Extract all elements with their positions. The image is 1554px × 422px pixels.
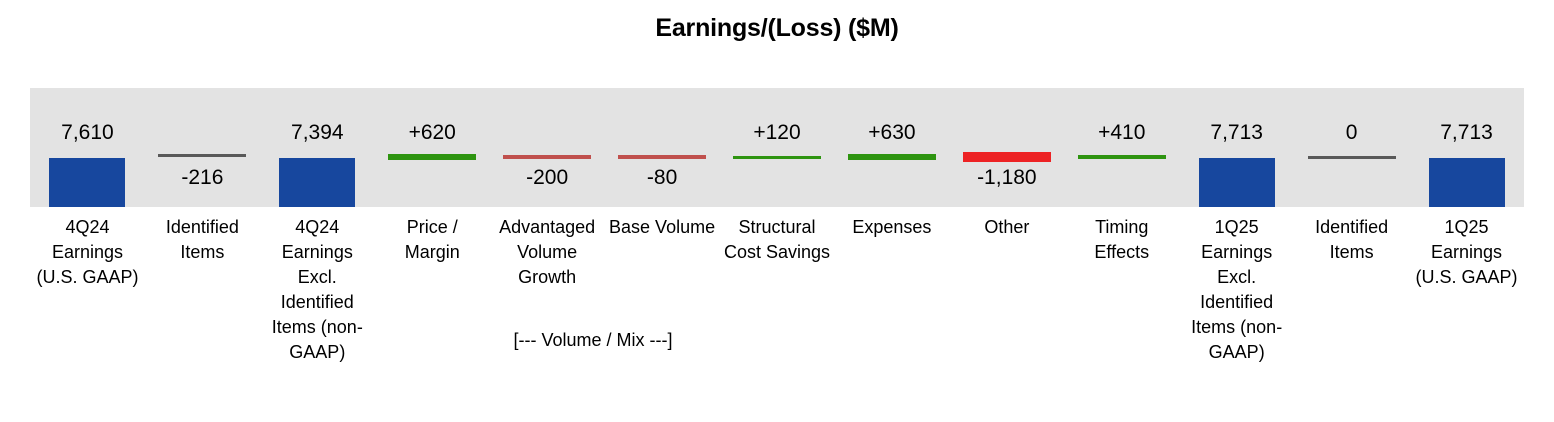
delta-rule	[158, 154, 246, 157]
waterfall-column: 7,6104Q24 Earnings (U.S. GAAP)	[30, 88, 145, 408]
category-label: Timing Effects	[1064, 215, 1179, 265]
column-value-label: 7,713	[1409, 121, 1524, 145]
waterfall-column: +120Structural Cost Savings	[720, 88, 835, 408]
waterfall-columns: 7,6104Q24 Earnings (U.S. GAAP)-216Identi…	[30, 88, 1524, 408]
waterfall-column: -216Identified Items	[145, 88, 260, 408]
delta-rule	[1078, 155, 1166, 159]
delta-rule	[963, 152, 1051, 162]
delta-rule	[848, 154, 936, 160]
column-value-label: 7,713	[1179, 121, 1294, 145]
waterfall-column: +410Timing Effects	[1064, 88, 1179, 408]
category-label: Other	[949, 215, 1064, 240]
column-value-label: -1,180	[949, 166, 1064, 190]
column-band: -216	[145, 88, 260, 207]
category-label: Base Volume	[605, 215, 720, 240]
delta-rule	[388, 154, 476, 160]
category-label: 4Q24 Earnings (U.S. GAAP)	[30, 215, 145, 290]
delta-rule	[618, 155, 706, 159]
column-band: +120	[720, 88, 835, 207]
column-band: 0	[1294, 88, 1409, 207]
chart-title: Earnings/(Loss) ($M)	[0, 14, 1554, 43]
total-bar	[49, 158, 125, 207]
column-value-label: 7,394	[260, 121, 375, 145]
waterfall-column: -80Base Volume	[605, 88, 720, 408]
waterfall-column: 7,7131Q25 Earnings Excl. Identified Item…	[1179, 88, 1294, 408]
category-label: Advantaged Volume Growth	[490, 215, 605, 290]
category-label: Price / Margin	[375, 215, 490, 265]
category-label: Structural Cost Savings	[720, 215, 835, 265]
column-band: 7,394	[260, 88, 375, 207]
delta-rule	[503, 155, 591, 159]
total-bar	[1429, 158, 1505, 207]
column-value-label: -80	[605, 166, 720, 190]
total-bar	[1199, 158, 1275, 207]
column-band: +630	[834, 88, 949, 207]
waterfall-column: +620Price / Margin	[375, 88, 490, 408]
column-band: -1,180	[949, 88, 1064, 207]
column-band: +620	[375, 88, 490, 207]
category-label: 1Q25 Earnings (U.S. GAAP)	[1409, 215, 1524, 290]
delta-rule	[733, 156, 821, 159]
category-label: Identified Items	[1294, 215, 1409, 265]
category-label: 1Q25 Earnings Excl. Identified Items (no…	[1179, 215, 1294, 365]
column-value-label: +630	[834, 121, 949, 145]
column-band: 7,713	[1409, 88, 1524, 207]
volume-mix-bracket-annotation: [--- Volume / Mix ---]	[458, 328, 728, 353]
column-value-label: -200	[490, 166, 605, 190]
waterfall-column: -1,180Other	[949, 88, 1064, 408]
waterfall-column: +630Expenses	[834, 88, 949, 408]
column-band: -200	[490, 88, 605, 207]
column-band: 7,713	[1179, 88, 1294, 207]
column-value-label: +620	[375, 121, 490, 145]
waterfall-column: 7,7131Q25 Earnings (U.S. GAAP)	[1409, 88, 1524, 408]
total-bar	[279, 158, 355, 207]
column-value-label: -216	[145, 166, 260, 190]
category-label: Identified Items	[145, 215, 260, 265]
column-value-label: +120	[720, 121, 835, 145]
column-value-label: +410	[1064, 121, 1179, 145]
column-band: -80	[605, 88, 720, 207]
waterfall-column: -200Advantaged Volume Growth	[490, 88, 605, 408]
column-band: 7,610	[30, 88, 145, 207]
column-value-label: 0	[1294, 121, 1409, 145]
column-value-label: 7,610	[30, 121, 145, 145]
waterfall-column: 7,3944Q24 Earnings Excl. Identified Item…	[260, 88, 375, 408]
delta-rule	[1308, 156, 1396, 159]
category-label: Expenses	[834, 215, 949, 240]
category-label: 4Q24 Earnings Excl. Identified Items (no…	[260, 215, 375, 365]
column-band: +410	[1064, 88, 1179, 207]
waterfall-column: 0Identified Items	[1294, 88, 1409, 408]
